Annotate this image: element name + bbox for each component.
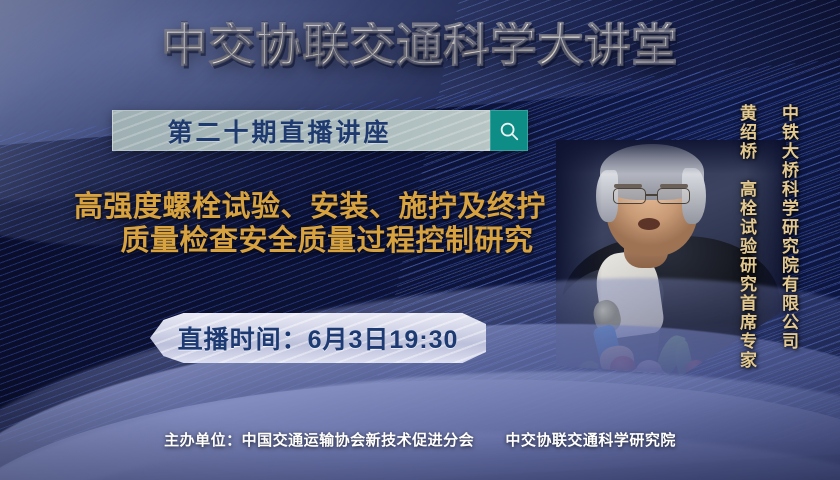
search-input[interactable]: 第二十期直播讲座 <box>112 110 490 151</box>
page-title-text: 中交协联交通科学大讲堂 <box>162 22 679 68</box>
search-input-value: 第二十期直播讲座 <box>167 113 435 149</box>
speaker-name-credit: 黄绍桥 高栓试验研究首席专家 <box>734 104 759 370</box>
headline-line-2: 质量检查安全质量过程控制研究 <box>10 224 610 258</box>
search-icon <box>498 120 520 142</box>
headline-line-1: 高强度螺栓试验、安装、施拧及终拧 <box>10 190 610 224</box>
search-bar[interactable]: 第二十期直播讲座 <box>112 110 528 151</box>
live-time-text: 直播时间：6月3日19:30 <box>178 320 459 356</box>
organizer-suffix: 中交协联交通科学研究院 <box>505 432 676 449</box>
live-lecture-poster: 中交协联交通科学大讲堂 第二十期直播讲座 高强度螺栓试验、安装、施拧及终拧 质量… <box>0 0 840 480</box>
search-button[interactable] <box>490 110 528 151</box>
page-title: 中交协联交通科学大讲堂 <box>0 22 840 68</box>
live-time-badge: 直播时间：6月3日19:30 <box>150 313 486 363</box>
speaker-organization-credit: 中铁大桥科学研究院有限公司 <box>776 104 801 351</box>
organizer-footer: 主办单位：中国交通运输协会新技术促进分会 中交协联交通科学研究院 <box>0 429 840 450</box>
lecture-headline: 高强度螺栓试验、安装、施拧及终拧 质量检查安全质量过程控制研究 <box>10 190 610 258</box>
organizer-prefix: 主办单位：中国交通运输协会新技术促进分会 <box>164 432 474 449</box>
